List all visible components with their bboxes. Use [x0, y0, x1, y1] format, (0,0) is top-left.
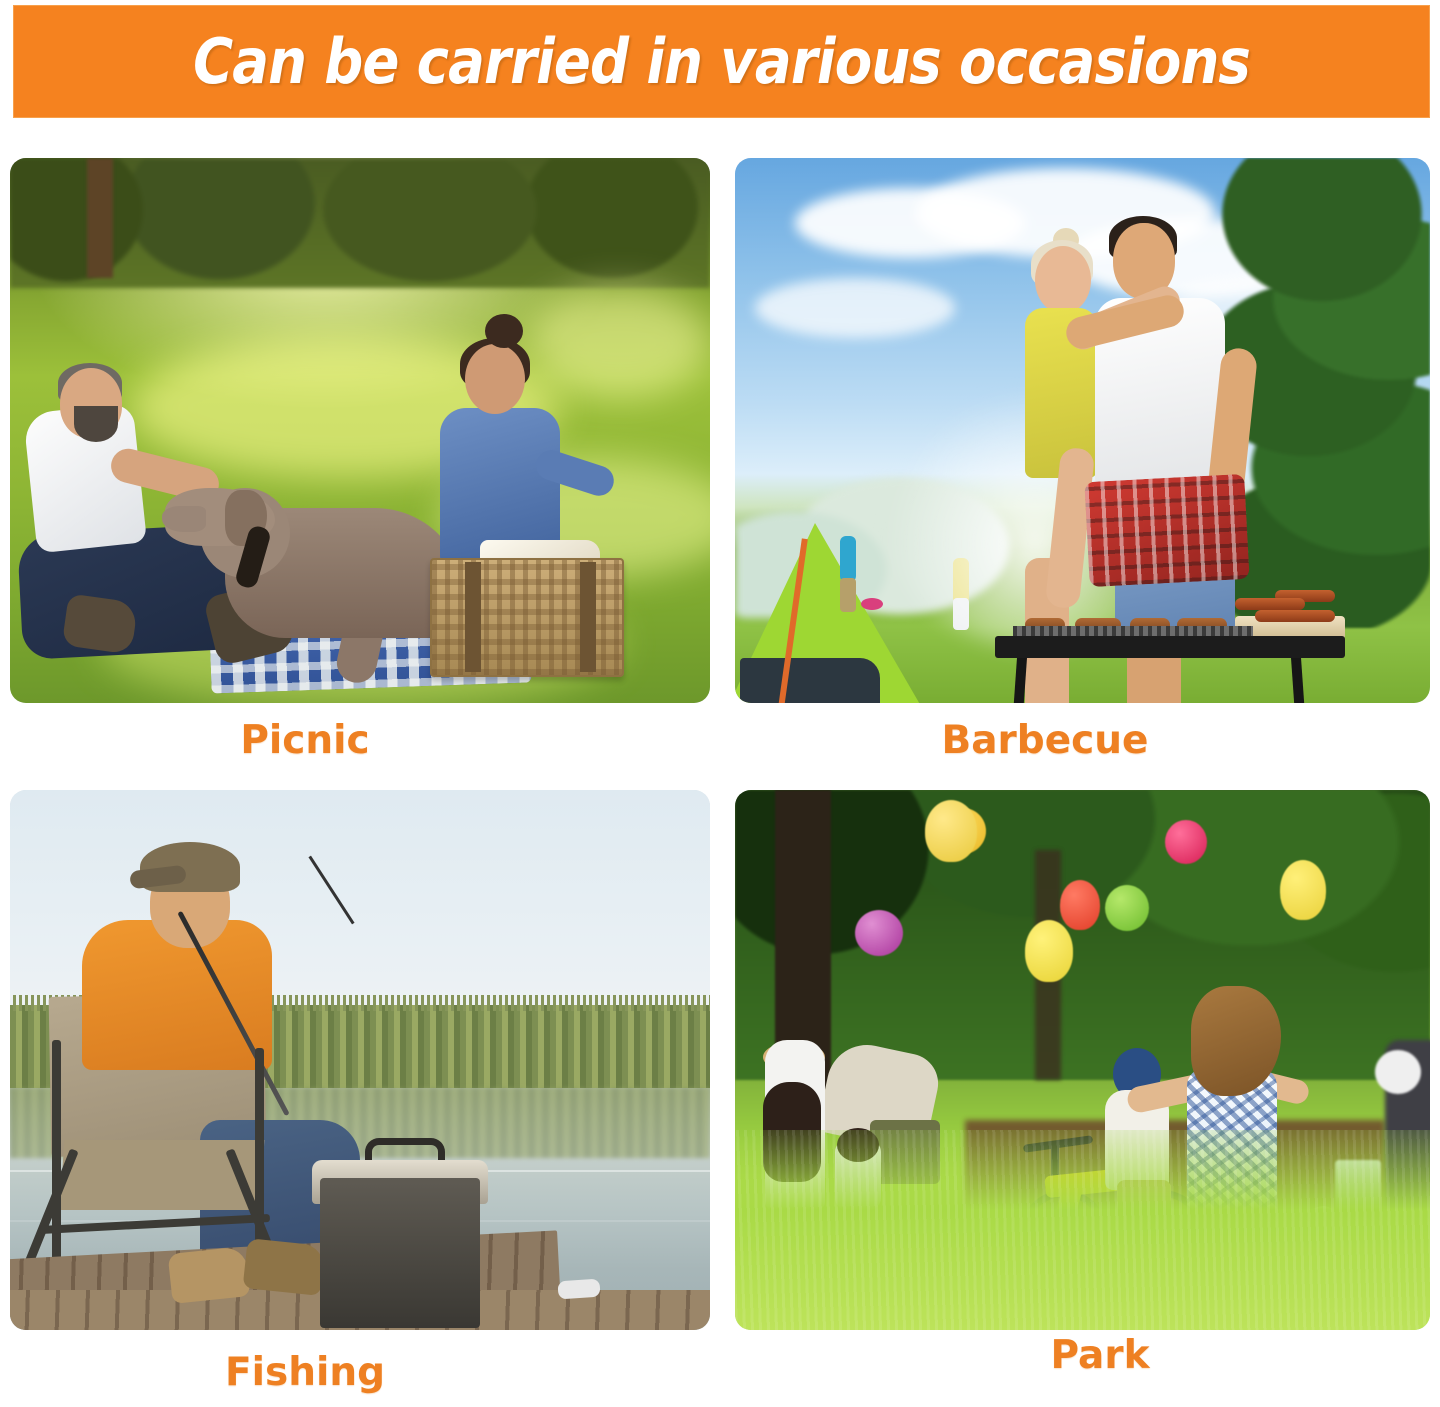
- tent-base: [740, 658, 880, 703]
- dog-snout: [162, 506, 206, 532]
- frisbee: [861, 598, 883, 610]
- tree-canopy: [735, 790, 1430, 1080]
- cloud: [755, 278, 955, 338]
- pink-paper-pompom: [1165, 820, 1207, 864]
- purple-paper-pompom: [855, 910, 903, 956]
- sausages: [1235, 598, 1305, 610]
- header-banner: Can be carried in various occasions: [13, 5, 1430, 118]
- yellow-balloon: [1280, 860, 1326, 920]
- sunlight-patch: [530, 288, 710, 398]
- tackle-box: [320, 1178, 480, 1328]
- dock-cleat: [557, 1279, 600, 1300]
- foreground-grass: [735, 1130, 1430, 1330]
- mans-boot: [168, 1246, 251, 1304]
- background-child: [840, 536, 856, 582]
- background-child-legs: [840, 578, 856, 612]
- basket-strap: [465, 562, 481, 672]
- yellow-balloon: [925, 800, 977, 862]
- girl-head: [465, 344, 525, 414]
- picnic-tree-trunk: [87, 158, 113, 278]
- photo-tile-picnic: [10, 158, 710, 703]
- woman-head: [1035, 246, 1091, 314]
- red-balloon: [1060, 880, 1100, 930]
- caption-fishing: Fishing: [0, 1350, 610, 1395]
- photo-tile-barbecue: [735, 158, 1430, 703]
- page-title: Can be carried in various occasions: [193, 25, 1250, 98]
- green-paper-pompom: [1105, 885, 1149, 931]
- man-beard: [74, 406, 118, 442]
- caption-park: Park: [735, 1333, 1440, 1378]
- plaid-shirt-tied-at-waist: [1084, 474, 1249, 587]
- girl-hair-bun: [485, 314, 523, 348]
- picnic-treeline: [10, 158, 710, 288]
- photo-tile-park: [735, 790, 1430, 1330]
- yellow-balloon: [1025, 920, 1073, 982]
- background-adult-arm: [1375, 1050, 1421, 1094]
- caption-picnic: Picnic: [0, 718, 610, 763]
- caption-barbecue: Barbecue: [735, 718, 1355, 763]
- sausages: [1255, 610, 1335, 622]
- basket-strap: [580, 562, 596, 672]
- photo-tile-fishing: [10, 790, 710, 1330]
- mans-boot: [243, 1238, 326, 1296]
- grill-table: [995, 636, 1345, 658]
